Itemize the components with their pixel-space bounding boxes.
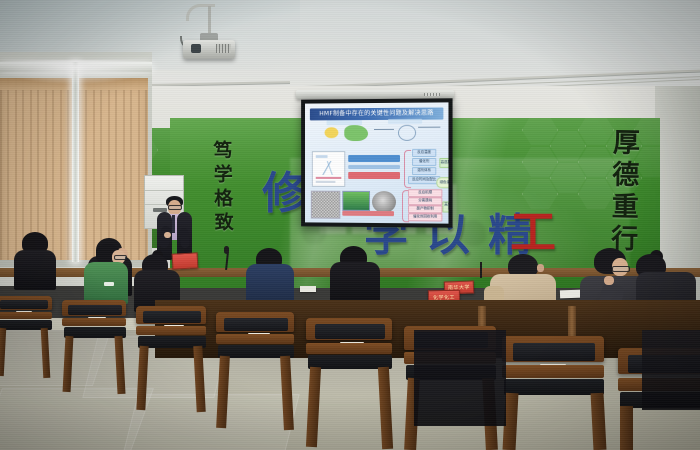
slide-particle-image [372,191,396,213]
slide-caption-bar [342,211,394,216]
projector-vent [216,44,231,53]
slide-outcome-box: 高选择性 [439,158,448,168]
slide-box: 分离提纯 [408,197,442,205]
slide-box: 溶剂体系 [412,167,436,175]
presenter-tie [172,215,175,233]
presenter-hand [164,232,171,238]
projection-screen[interactable]: HMF制备中存在的关键性问题及解决思路 反应温度 催化剂 [301,98,452,227]
attendee-hand [604,276,614,285]
slide-box: 副产物抑制 [408,205,442,213]
slide-label [327,120,363,125]
slide-biomass-icon [344,125,368,141]
slide-chart-card [312,151,345,187]
slide-bar-blue [348,155,400,162]
slide-green-chem-bubble: 绿色化学 [436,177,448,188]
wall-calligraphy-left: 笃学格致 [211,140,232,236]
slide-label [388,119,422,124]
slide-molecule-ring [398,125,416,141]
projector-stem [208,6,211,36]
slide-bar-red [348,172,400,179]
slide-outcome-box: 高转化率 [442,201,448,212]
slide-glucose-icon [325,127,339,138]
gooseneck-microphone [480,262,482,278]
window-frame [72,62,79,262]
window-curtain [78,78,148,260]
wall-motto-red: 工 [510,210,556,256]
slide-bar-lightblue [348,165,400,169]
slide-box: 催化剂回收利用 [408,213,442,221]
jacket-logo [104,282,114,286]
presenter-arm-right [179,228,190,249]
window-light-glow [0,60,150,84]
slide-box: 催化剂 [412,158,436,166]
presenter-glasses [168,205,182,210]
attendee-hand [537,264,544,272]
microphone-head [224,246,229,254]
wall-calligraphy-right: 厚德重行 [608,128,637,256]
slide-green-image [342,191,370,211]
slide-arrow [374,129,394,140]
projector-lens [191,44,201,53]
slide-sem-image [311,191,340,219]
under-table-shadow [414,330,506,426]
slide-box: 反应温度 [412,149,436,157]
table-nameplate-far [172,252,199,269]
table-paper [560,290,582,299]
screen-case-vent [424,93,440,96]
slide-box: 反应机理 [408,189,442,197]
wall-motto-blue-1: 修 [262,172,306,216]
classroom-scene: 笃学格致 厚德重行 修 学以精 工 HMF制备中存在的关键性问题及解决思路 [0,0,700,450]
presentation-slide: HMF制备中存在的关键性问题及解决思路 反应温度 催化剂 [305,102,448,223]
attendee-glasses [612,266,630,272]
under-table-shadow-right [642,330,700,410]
attendee-torso [14,250,56,290]
slide-title: HMF制备中存在的关键性问题及解决思路 [310,107,444,120]
attendee-glasses [114,255,127,260]
slide-arrow [418,127,440,138]
table-paper [300,286,316,292]
